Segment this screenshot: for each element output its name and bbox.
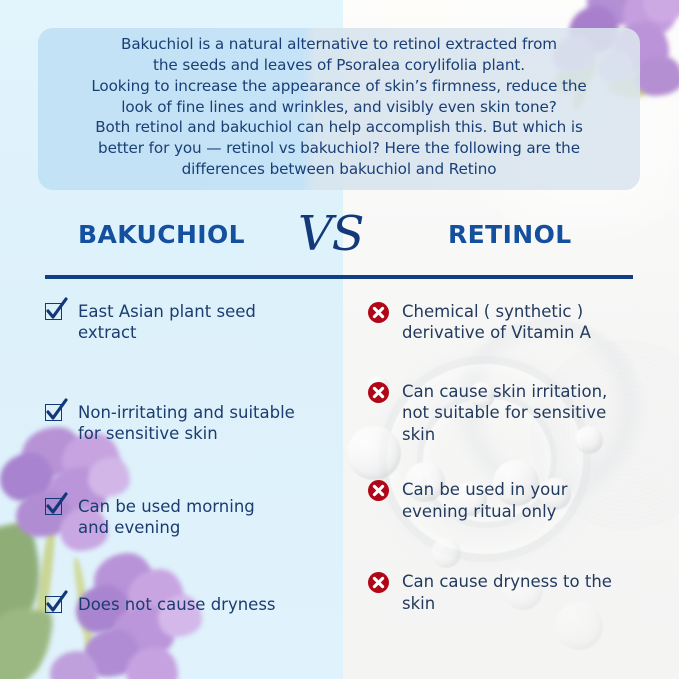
- x-circle-icon: [368, 302, 389, 323]
- list-item: Does not cause dryness: [45, 593, 345, 615]
- x-circle-icon: [368, 572, 389, 593]
- comparison-infographic: Bakuchiol is a natural alternative to re…: [0, 0, 679, 679]
- list-item: East Asian plant seed extract: [45, 300, 345, 344]
- check-icon: [45, 595, 65, 615]
- list-item: Can be used morning and evening: [45, 495, 345, 539]
- heading-divider: [45, 275, 633, 279]
- list-item-label: Can be used in your evening ritual only: [402, 478, 568, 522]
- list-item-label: Can cause dryness to the skin: [402, 570, 612, 614]
- list-item-label: Chemical ( synthetic ) derivative of Vit…: [402, 300, 591, 344]
- list-item: Can cause skin irritation, not suitable …: [368, 380, 668, 445]
- versus-label: VS: [298, 206, 364, 262]
- intro-text: Bakuchiol is a natural alternative to re…: [91, 34, 586, 180]
- x-circle-icon: [368, 480, 389, 501]
- list-item: Can be used in your evening ritual only: [368, 478, 668, 522]
- column-bakuchiol: East Asian plant seed extract Non-irrita…: [45, 300, 345, 672]
- list-item: Chemical ( synthetic ) derivative of Vit…: [368, 300, 668, 344]
- check-icon: [45, 497, 65, 517]
- list-item-label: Does not cause dryness: [78, 593, 276, 615]
- list-item: Can cause dryness to the skin: [368, 570, 668, 614]
- heading-retinol: RETINOL: [448, 220, 572, 249]
- column-retinol: Chemical ( synthetic ) derivative of Vit…: [368, 300, 668, 650]
- list-item-label: Can cause skin irritation, not suitable …: [402, 380, 607, 445]
- list-item-label: Non-irritating and suitable for sensitiv…: [78, 401, 295, 445]
- check-icon: [45, 302, 65, 322]
- heading-bakuchiol: BAKUCHIOL: [78, 220, 245, 249]
- list-item: Non-irritating and suitable for sensitiv…: [45, 401, 345, 445]
- list-item-label: East Asian plant seed extract: [78, 300, 256, 344]
- headings-row: BAKUCHIOL VS RETINOL: [0, 214, 679, 268]
- comparison-columns: East Asian plant seed extract Non-irrita…: [0, 300, 679, 679]
- intro-panel: Bakuchiol is a natural alternative to re…: [38, 28, 640, 190]
- x-circle-icon: [368, 382, 389, 403]
- list-item-label: Can be used morning and evening: [78, 495, 255, 539]
- check-icon: [45, 403, 65, 423]
